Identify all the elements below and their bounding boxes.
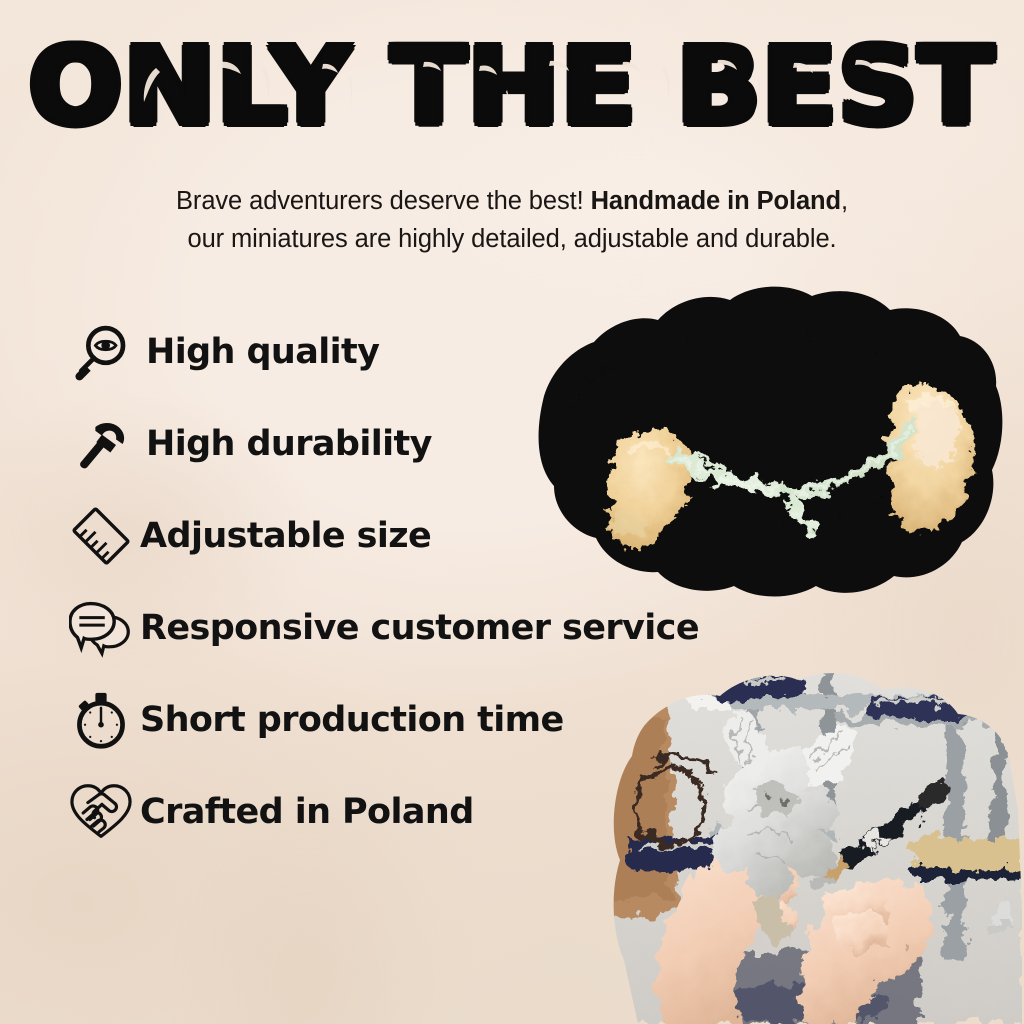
feature-item-short-production-time[interactable]: Short production time <box>62 674 762 766</box>
stopwatch-icon <box>62 689 140 751</box>
feature-item-high-durability[interactable]: High durability <box>62 398 762 490</box>
page-title: ONLY THE BEST <box>0 34 1024 138</box>
subtitle-line-2: our miniatures are highly detailed, adju… <box>0 220 1024 258</box>
feature-item-responsive-customer-service[interactable]: Responsive customer service <box>62 582 762 674</box>
feature-item-high-quality[interactable]: High quality <box>62 306 762 398</box>
speech-bubbles-icon <box>62 597 140 659</box>
feature-label: Crafted in Poland <box>140 792 474 832</box>
feature-label: High quality <box>146 332 379 372</box>
subtitle-line-1: Brave adventurers deserve the best! Hand… <box>0 182 1024 220</box>
page-title-text: ONLY THE BEST <box>29 33 995 139</box>
feature-item-crafted-in-poland[interactable]: Crafted in Poland <box>62 766 762 858</box>
feature-label: High durability <box>146 424 432 464</box>
handshake-heart-icon <box>62 782 140 842</box>
ruler-icon <box>62 505 140 567</box>
promo-poster: ONLY THE BEST Brave adventurers deserve … <box>0 0 1024 1024</box>
feature-item-adjustable-size[interactable]: Adjustable size <box>62 490 762 582</box>
feature-list: High quality High durability <box>62 306 762 858</box>
feature-label: Short production time <box>140 700 564 740</box>
feature-label: Adjustable size <box>140 516 431 556</box>
subtitle: Brave adventurers deserve the best! Hand… <box>0 182 1024 258</box>
subtitle-text-a: Brave adventurers deserve the best! <box>176 187 591 215</box>
subtitle-emphasis: Handmade in Poland <box>591 187 841 215</box>
magnifier-eye-icon <box>62 322 140 382</box>
feature-label: Responsive customer service <box>140 608 699 648</box>
hammer-icon <box>62 414 140 474</box>
subtitle-text-b: , <box>841 187 848 215</box>
